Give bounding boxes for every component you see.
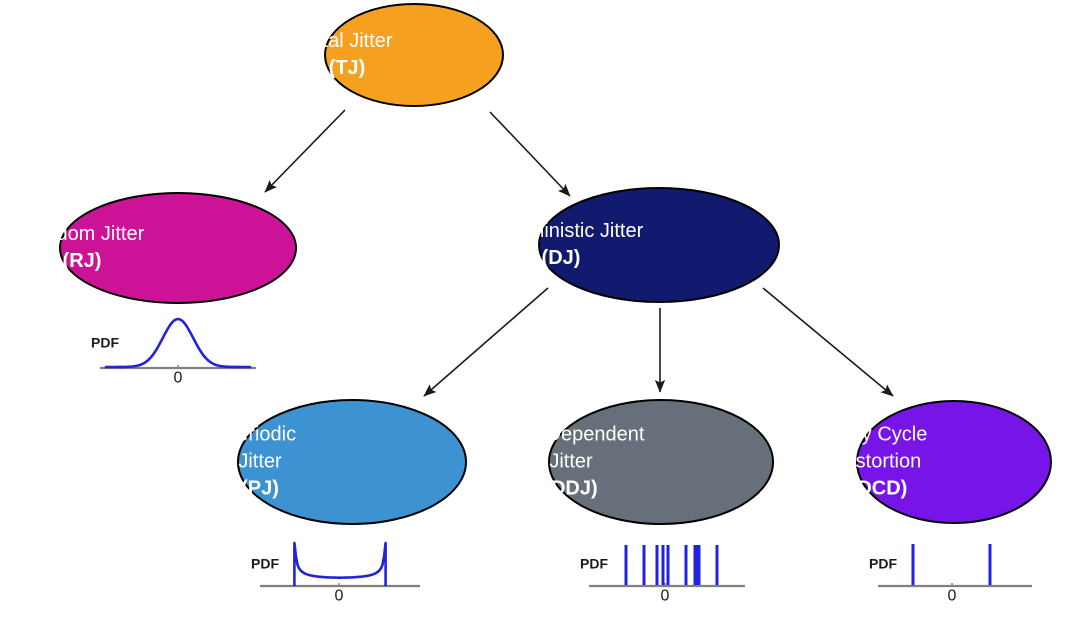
node-ellipse-rj[interactable] — [60, 193, 296, 303]
node-label-tj-line0: Total Jitter — [301, 30, 392, 52]
pdf-pj: PDF0 — [251, 543, 420, 604]
node-dcd[interactable]: Duty CycleDistortion(DCD) — [831, 401, 1051, 523]
arrow-dj-dcd — [763, 288, 893, 396]
node-ddj[interactable]: Data-DependentJitter(DDJ) — [498, 400, 773, 524]
node-label-dcd-line0: Duty Cycle — [831, 423, 928, 445]
node-ellipse-dj[interactable] — [539, 188, 779, 302]
arrow-dj-pj — [424, 288, 548, 396]
node-label-ddj-abbr: (DDJ) — [544, 477, 597, 499]
pdf-ddj-spike-0 — [625, 545, 628, 585]
pdf-ddj-spike-3 — [662, 545, 665, 585]
node-label-rj-abbr: (RJ) — [63, 250, 102, 272]
pdf-dcd-spike-1 — [989, 544, 992, 585]
node-label-dj-abbr: (DJ) — [542, 247, 581, 269]
arrow-tj-dj — [490, 112, 570, 196]
pdf-ddj-spike-2 — [656, 545, 659, 585]
pdf-dcd-label: PDF — [869, 556, 897, 572]
node-ellipse-tj[interactable] — [325, 4, 503, 106]
node-label-ddj-line1: Jitter — [549, 450, 593, 472]
nodes-layer: Total Jitter(TJ)Random Jitter(RJ)Determi… — [20, 4, 1051, 524]
pdf-ddj: PDF0 — [580, 545, 745, 604]
node-label-dcd-line1: Distortion — [837, 450, 921, 472]
pdf-ddj-zero-label: 0 — [661, 587, 670, 604]
pdf-rj-zero-label: 0 — [174, 369, 183, 386]
pdf-pj-label: PDF — [251, 556, 279, 572]
node-rj[interactable]: Random Jitter(RJ) — [20, 193, 296, 303]
pdf-ddj-spike-5 — [685, 545, 688, 585]
pdf-rj-label: PDF — [91, 335, 119, 351]
pdf-pj-curve — [294, 543, 385, 585]
node-label-pj-line1: Jitter — [238, 450, 282, 472]
node-label-tj-abbr: (TJ) — [329, 57, 366, 79]
pdf-ddj-spike-4 — [667, 545, 670, 585]
node-pj[interactable]: PeriodicJitter(PJ) — [224, 400, 466, 524]
node-label-pj-abbr: (PJ) — [241, 477, 279, 499]
node-dj[interactable]: Deterministic Jitter(DJ) — [479, 188, 779, 302]
pdf-dcd: PDF0 — [869, 544, 1032, 604]
pdf-ddj-label: PDF — [580, 556, 608, 572]
pdf-dcd-zero-label: 0 — [948, 587, 957, 604]
pdf-ddj-spike-1 — [643, 545, 646, 585]
node-label-rj-line0: Random Jitter — [20, 223, 145, 245]
node-label-pj-line0: Periodic — [224, 423, 296, 445]
jitter-decomposition-diagram: Total Jitter(TJ)Random Jitter(RJ)Determi… — [0, 0, 1081, 641]
node-tj[interactable]: Total Jitter(TJ) — [301, 4, 503, 106]
node-label-dcd-abbr: (DCD) — [851, 477, 908, 499]
diagram-canvas: Total Jitter(TJ)Random Jitter(RJ)Determi… — [0, 0, 1081, 641]
node-label-dj-line0: Deterministic Jitter — [479, 220, 644, 242]
pdf-dcd-spike-0 — [912, 544, 915, 585]
pdf-rj-curve — [106, 319, 250, 367]
pdf-ddj-spike-7 — [716, 545, 719, 585]
pdf-rj: PDF0 — [91, 319, 256, 386]
pdf-pj-zero-label: 0 — [335, 587, 344, 604]
arrow-tj-rj — [265, 110, 345, 192]
pdf-ddj-spike-6 — [694, 545, 701, 585]
node-label-ddj-line0: Data-Dependent — [498, 423, 645, 445]
